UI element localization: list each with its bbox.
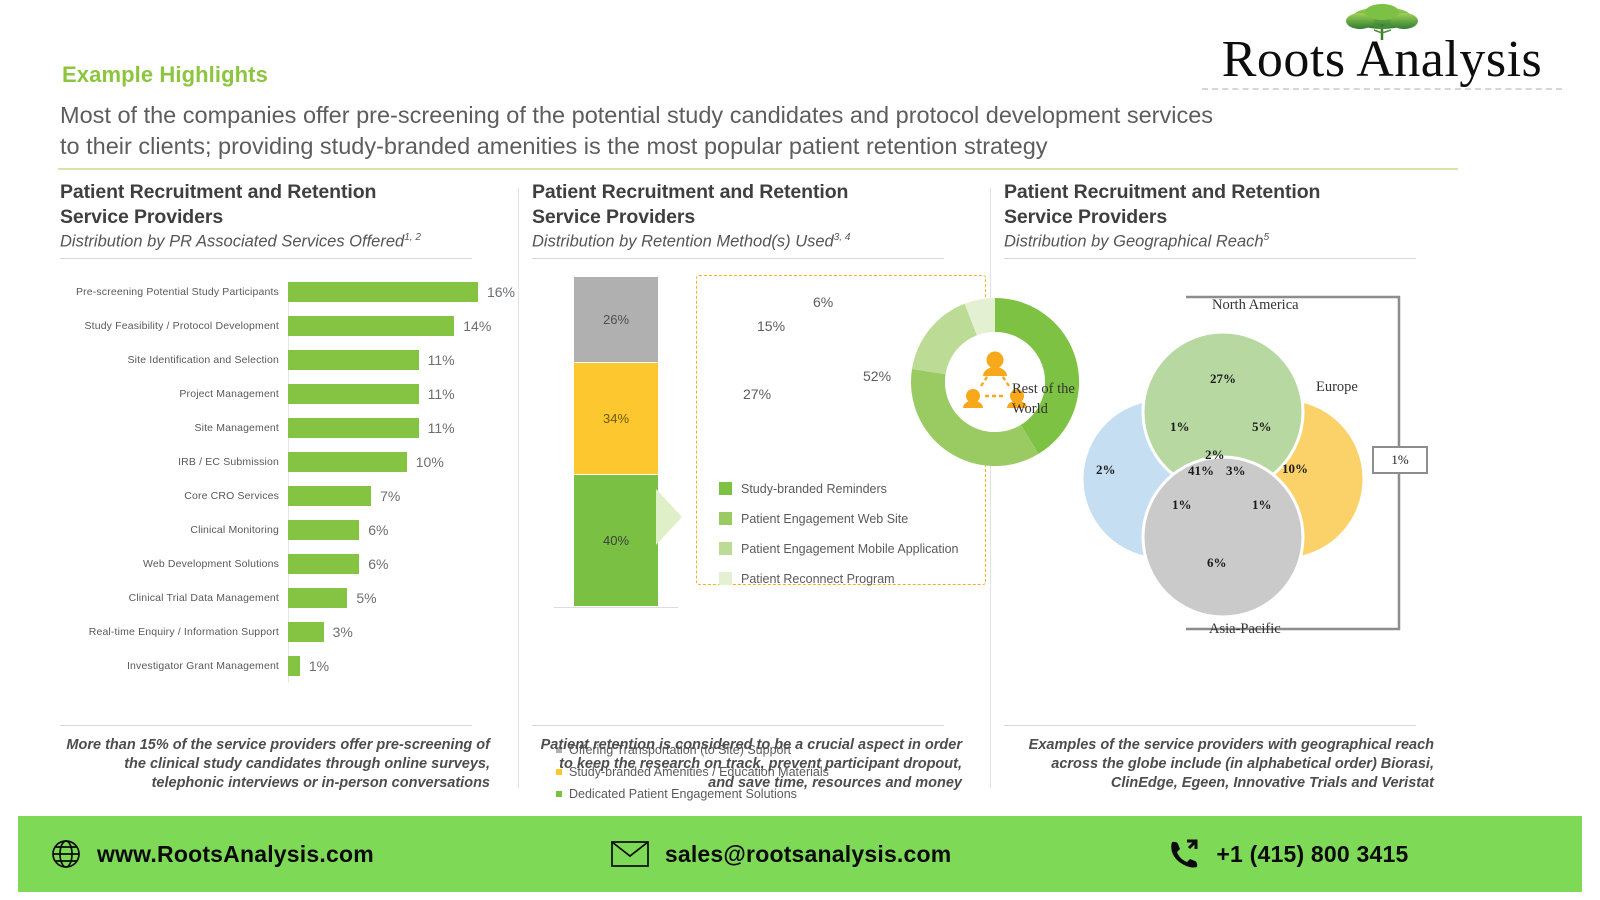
bar-value-label: 16%	[487, 284, 515, 300]
bar-value-label: 6%	[368, 522, 388, 538]
bar-track: 6%	[288, 547, 515, 581]
panel-1-divider	[60, 258, 472, 259]
logo-divider	[1202, 88, 1562, 90]
panel-3-caption: Examples of the service providers with g…	[1004, 736, 1434, 793]
legend-swatch	[719, 512, 732, 525]
panel-2-title-line-2: Service Providers	[532, 205, 987, 230]
footer-email[interactable]: sales@rootsanalysis.com	[610, 839, 952, 869]
bar-category-label: Core CRO Services	[60, 490, 288, 502]
venn-value-north-america: 27%	[1210, 371, 1236, 387]
bar-category-label: Investigator Grant Management	[60, 660, 288, 672]
logo-wordmark: Roots Analysis	[1192, 34, 1572, 86]
bar-row: Study Feasibility / Protocol Development…	[60, 309, 515, 343]
bar-fill	[288, 316, 454, 336]
donut-callout-box: 52% 27% 15% 6% Study-branded RemindersPa…	[696, 275, 986, 585]
bar-track: 3%	[288, 615, 515, 649]
bar-row: IRB / EC Submission10%	[60, 445, 515, 479]
column-divider-2	[990, 188, 991, 788]
stacked-bar-segment: 34%	[574, 363, 658, 475]
venn-value-eu-ap: 1%	[1252, 497, 1272, 513]
panel-2-subtitle: Distribution by Retention Method(s) Used…	[532, 232, 987, 252]
bar-category-label: Project Management	[60, 388, 288, 400]
bar-category-label: Pre-screening Potential Study Participan…	[60, 286, 288, 298]
bar-value-label: 11%	[428, 386, 455, 402]
bar-category-label: Site Identification and Selection	[60, 354, 288, 366]
venn-value-rest-of-world: 2%	[1096, 462, 1116, 478]
headline-line-2: to their clients; providing study-brande…	[60, 131, 1460, 162]
bar-category-label: Clinical Trial Data Management	[60, 592, 288, 604]
panel-1-caption-divider	[60, 725, 472, 726]
legend-label: Patient Engagement Web Site	[741, 512, 908, 526]
page-title: Most of the companies offer pre-screenin…	[60, 100, 1460, 162]
stacked-bar-column: 26%34%40%	[574, 277, 658, 607]
venn-set-label-rest-of-world: Rest of the World	[1012, 379, 1102, 419]
bar-track: 6%	[288, 513, 515, 547]
venn-value-all-four: 41%	[1188, 463, 1214, 479]
bar-category-label: Clinical Monitoring	[60, 524, 288, 536]
panel-1-title-line-2: Service Providers	[60, 205, 515, 230]
panel-retention-methods: Patient Recruitment and Retention Servic…	[532, 180, 987, 790]
bar-fill	[288, 350, 419, 370]
legend-label: Patient Reconnect Program	[741, 572, 895, 586]
bar-category-label: Study Feasibility / Protocol Development	[60, 320, 288, 332]
bar-fill	[288, 622, 324, 642]
bar-fill	[288, 418, 419, 438]
bar-fill	[288, 554, 359, 574]
venn-value-row-na: 1%	[1170, 419, 1190, 435]
panel-1-subtitle-footnote: 1, 2	[404, 232, 421, 243]
bar-row: Clinical Monitoring6%	[60, 513, 515, 547]
bar-fill	[288, 384, 419, 404]
panel-3-title-line-2: Service Providers	[1004, 205, 1459, 230]
legend-item: Patient Reconnect Program	[719, 564, 969, 594]
bar-row: Site Identification and Selection11%	[60, 343, 515, 377]
brand-logo: Roots Analysis	[1192, 4, 1572, 90]
column-divider-1	[518, 188, 519, 788]
panel-1-subtitle-text: Distribution by PR Associated Services O…	[60, 233, 404, 251]
legend-item: Study-branded Reminders	[719, 474, 969, 504]
bar-track: 11%	[288, 343, 515, 377]
bar-track: 5%	[288, 581, 515, 615]
page-eyebrow: Example Highlights	[62, 62, 268, 88]
donut-label-0: 52%	[863, 368, 891, 384]
stacked-bar-chart: 26%34%40%	[532, 277, 987, 617]
bar-chart-services: Pre-screening Potential Study Participan…	[60, 275, 515, 683]
legend-swatch	[719, 572, 732, 585]
bar-track: 11%	[288, 411, 515, 445]
bar-row: Project Management11%	[60, 377, 515, 411]
donut-label-2: 15%	[757, 318, 785, 334]
bar-track: 1%	[288, 649, 515, 683]
bar-value-label: 10%	[416, 454, 444, 470]
venn-set-label-north-america: North America	[1212, 297, 1299, 314]
bar-value-label: 11%	[428, 420, 455, 436]
bar-row: Core CRO Services7%	[60, 479, 515, 513]
bar-value-label: 14%	[463, 318, 491, 334]
footer-bar: www.RootsAnalysis.com sales@rootsanalysi…	[18, 816, 1582, 892]
panel-2-subtitle-text: Distribution by Retention Method(s) Used	[532, 233, 834, 251]
bar-value-label: 7%	[380, 488, 400, 504]
bar-track: 11%	[288, 377, 515, 411]
bar-row: Web Development Solutions6%	[60, 547, 515, 581]
footer-website[interactable]: www.RootsAnalysis.com	[50, 838, 374, 870]
bar-value-label: 5%	[356, 590, 376, 606]
panel-2-caption-divider	[532, 725, 944, 726]
venn-set-label-europe: Europe	[1316, 379, 1358, 396]
legend-swatch	[719, 542, 732, 555]
panel-3-subtitle-footnote: 5	[1264, 232, 1270, 243]
panel-2-title: Patient Recruitment and Retention Servic…	[532, 180, 987, 230]
panel-2-title-line-1: Patient Recruitment and Retention	[532, 180, 987, 205]
panel-2-caption: Patient retention is considered to be a …	[532, 736, 962, 793]
bar-track: 14%	[288, 309, 515, 343]
legend-label: Patient Engagement Mobile Application	[741, 542, 959, 556]
bar-row: Clinical Trial Data Management5%	[60, 581, 515, 615]
bar-category-label: Site Management	[60, 422, 288, 434]
panel-3-title-line-1: Patient Recruitment and Retention	[1004, 180, 1459, 205]
donut-legend: Study-branded RemindersPatient Engagemen…	[719, 474, 969, 594]
venn-set-label-asia-pacific: Asia-Pacific	[1209, 621, 1281, 638]
footer-phone-text: +1 (415) 800 3415	[1216, 841, 1408, 868]
panel-3-title: Patient Recruitment and Retention Servic…	[1004, 180, 1459, 230]
footer-email-text: sales@rootsanalysis.com	[665, 841, 952, 868]
legend-item: Patient Engagement Web Site	[719, 504, 969, 534]
panel-3-divider	[1004, 258, 1416, 259]
bar-row: Site Management11%	[60, 411, 515, 445]
tree-icon	[1192, 4, 1572, 38]
venn-value-asia-pacific: 6%	[1207, 555, 1227, 571]
stacked-bar-segment: 40%	[574, 475, 658, 607]
venn-value-na-eu-ap: 2%	[1205, 447, 1225, 463]
bar-value-label: 6%	[368, 556, 388, 572]
panel-1-title: Patient Recruitment and Retention Servic…	[60, 180, 515, 230]
stacked-bar-segment: 26%	[574, 277, 658, 363]
phone-icon	[1167, 838, 1201, 870]
bar-fill	[288, 588, 347, 608]
footer-phone[interactable]: +1 (415) 800 3415	[1167, 838, 1408, 870]
donut-label-3: 6%	[813, 294, 833, 310]
globe-icon	[50, 838, 82, 870]
panel-2-divider	[532, 258, 944, 259]
arrow-icon	[656, 489, 692, 545]
venn-value-row-ap: 1%	[1172, 497, 1192, 513]
stacked-bar-baseline	[554, 607, 678, 608]
bar-track: 16%	[288, 275, 515, 309]
panel-3-subtitle: Distribution by Geographical Reach5	[1004, 232, 1459, 252]
bar-value-label: 1%	[309, 658, 329, 674]
bar-category-label: IRB / EC Submission	[60, 456, 288, 468]
bar-fill	[288, 486, 371, 506]
panel-2-subtitle-footnote: 3, 4	[834, 232, 851, 243]
venn-value-triple-b: 3%	[1226, 463, 1246, 479]
footer-website-text: www.RootsAnalysis.com	[97, 841, 374, 868]
bar-value-label: 3%	[333, 624, 353, 640]
bar-fill	[288, 452, 407, 472]
bar-row: Pre-screening Potential Study Participan…	[60, 275, 515, 309]
legend-label: Study-branded Reminders	[741, 482, 887, 496]
panel-1-subtitle: Distribution by PR Associated Services O…	[60, 232, 515, 252]
bar-row: Real-time Enquiry / Information Support3…	[60, 615, 515, 649]
bar-category-label: Real-time Enquiry / Information Support	[60, 626, 288, 638]
panel-1-caption: More than 15% of the service providers o…	[60, 736, 490, 793]
donut-label-1: 27%	[743, 386, 771, 402]
legend-swatch	[719, 482, 732, 495]
headline-line-1: Most of the companies offer pre-screenin…	[60, 100, 1460, 131]
bar-track: 10%	[288, 445, 515, 479]
venn-callout-value: 1%	[1372, 446, 1428, 474]
panel-3-caption-divider	[1004, 725, 1416, 726]
bar-value-label: 11%	[428, 352, 455, 368]
bar-category-label: Web Development Solutions	[60, 558, 288, 570]
venn-value-europe: 10%	[1282, 461, 1308, 477]
bar-fill	[288, 520, 359, 540]
panel-3-subtitle-text: Distribution by Geographical Reach	[1004, 233, 1264, 251]
venn-value-na-eu: 5%	[1252, 419, 1272, 435]
bar-track: 7%	[288, 479, 515, 513]
header-divider	[58, 168, 1458, 170]
envelope-icon	[610, 839, 650, 869]
panel-services-offered: Patient Recruitment and Retention Servic…	[60, 180, 515, 790]
panel-geographical-reach: Patient Recruitment and Retention Servic…	[1004, 180, 1459, 790]
venn-diagram-geography: North America Europe Asia-Pacific Rest o…	[1004, 269, 1459, 669]
panel-1-title-line-1: Patient Recruitment and Retention	[60, 180, 515, 205]
bar-row: Investigator Grant Management1%	[60, 649, 515, 683]
panels-container: Patient Recruitment and Retention Servic…	[0, 180, 1600, 790]
bar-fill	[288, 282, 478, 302]
bar-fill	[288, 656, 300, 676]
legend-item: Patient Engagement Mobile Application	[719, 534, 969, 564]
